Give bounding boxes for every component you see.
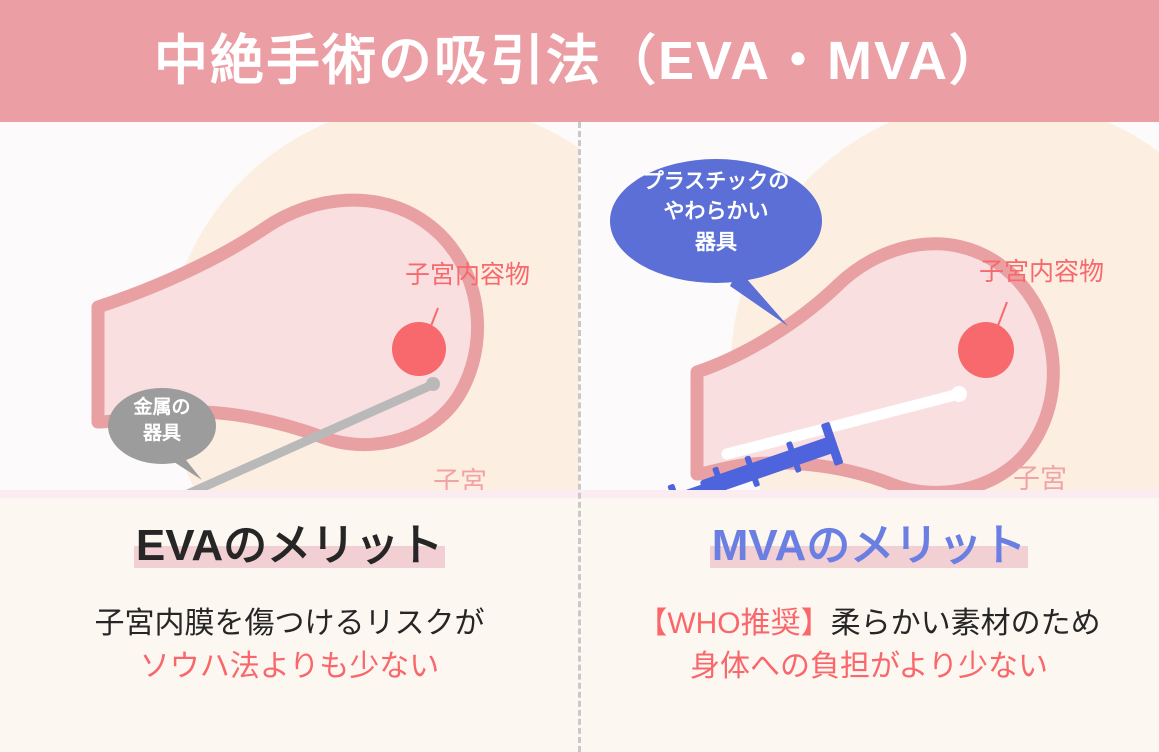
mva-benefit-panel: MVAのメリット 【WHO推奨】柔らかい素材のため 身体への負担がより少ない (579, 498, 1159, 752)
eva-benefit-panel: EVAのメリット 子宮内膜を傷つけるリスクが ソウハ法よりも少ない (0, 498, 579, 752)
mva-heading-wrap: MVAのメリット (706, 520, 1033, 572)
mva-body-line-2: 身体への負担がより少ない (690, 645, 1048, 689)
eva-heading-wrap: EVAのメリット (130, 520, 449, 572)
label-uterine-contents: 子宮内容物 (979, 252, 1104, 288)
label-uterus: 子宮 (1013, 457, 1067, 490)
bubble-metal-instrument: 金属の 器具 (108, 388, 206, 464)
uterine-contents-dot (392, 322, 446, 376)
eva-diagram-svg (0, 122, 579, 490)
eva-body-line-2: ソウハ法よりも少ない (140, 645, 439, 689)
infographic-root: 中絶手術の吸引法（EVA・MVA） 子宮内容物 (0, 0, 1159, 752)
panel-divider (578, 122, 581, 752)
page-title: 中絶手術の吸引法（EVA・MVA） (154, 34, 1005, 88)
title-bar: 中絶手術の吸引法（EVA・MVA） (0, 0, 1159, 122)
label-uterus: 子宮 (433, 460, 487, 490)
mva-who-badge: 【WHO推奨】 (637, 607, 830, 640)
mva-body-line-1: 【WHO推奨】柔らかい素材のため (637, 602, 1100, 646)
label-uterine-contents: 子宮内容物 (405, 255, 530, 291)
bubble-plastic-line-3: 器具 (610, 228, 822, 258)
uterine-contents-dot (958, 322, 1014, 378)
bubble-metal-line-1: 金属の (108, 395, 216, 421)
eva-illustration-panel: 子宮内容物 子宮 金属の 器具 器具 (0, 122, 579, 490)
mva-body-line-1-rest: 柔らかい素材のため (831, 607, 1101, 640)
bubble-metal-line-2: 器具 (108, 421, 216, 447)
mva-illustration-panel: 子宮内容物 子宮 プラスチックの やわらかい 器具 (579, 122, 1159, 490)
eva-body-line-1: 子宮内膜を傷つけるリスクが (95, 602, 485, 646)
eva-heading: EVAのメリット (130, 520, 449, 572)
mva-heading: MVAのメリット (706, 520, 1033, 572)
bubble-plastic-instrument: プラスチックの やわらかい 器具 (610, 154, 822, 286)
bubble-plastic-line-1: プラスチックの (610, 167, 822, 197)
bubble-plastic-line-2: やわらかい (610, 197, 822, 227)
